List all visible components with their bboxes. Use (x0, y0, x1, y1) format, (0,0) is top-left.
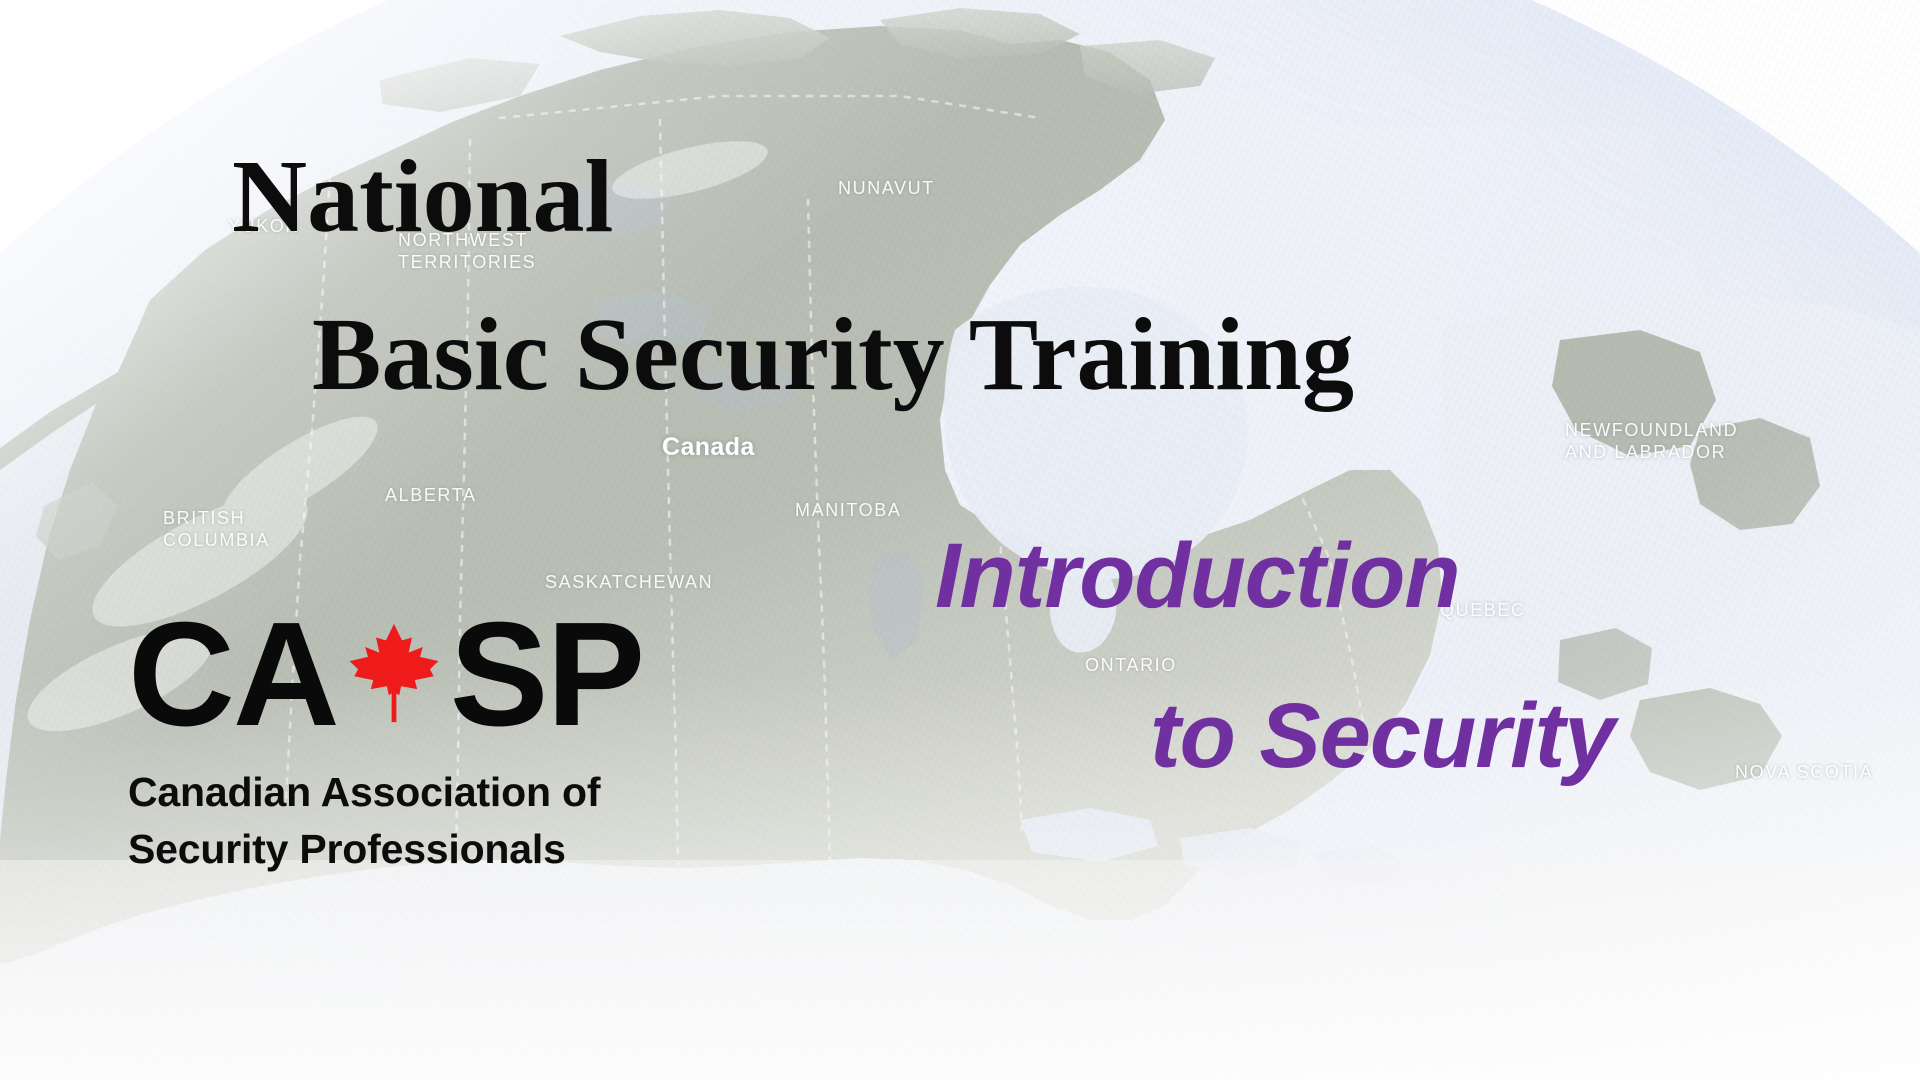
maple-leaf-icon (346, 621, 442, 729)
map-label-bc: BRITISH COLUMBIA (163, 508, 270, 552)
casp-logo: CA SP Canadian Association of Security P… (128, 600, 748, 877)
casp-wordmark-prefix: CA (128, 601, 338, 749)
casp-wordmark: CA SP (128, 600, 748, 750)
map-label-novascotia: NOVA SCOTIA (1735, 762, 1873, 784)
map-label-alberta: ALBERTA (385, 485, 477, 507)
slide-title-line-2: Basic Security Training (312, 303, 1354, 407)
slide-subtitle-line-2: to Security (1150, 690, 1614, 782)
casp-tagline: Canadian Association of Security Profess… (128, 764, 748, 877)
map-label-saskatchewan: SASKATCHEWAN (545, 572, 713, 594)
casp-wordmark-suffix: SP (450, 601, 643, 749)
map-label-newfoundland: NEWFOUNDLAND AND LABRADOR (1565, 420, 1738, 464)
title-slide: CanadaYUKONNORTHWEST TERRITORIESNUNAVUTB… (0, 0, 1920, 1080)
slide-title-line-1: National (232, 145, 613, 249)
slide-subtitle-line-1: Introduction (935, 530, 1460, 622)
casp-tagline-line-2: Security Professionals (128, 821, 748, 878)
map-label-ontario: ONTARIO (1085, 655, 1177, 677)
map-label-nunavut: NUNAVUT (838, 178, 935, 200)
map-label-manitoba: MANITOBA (795, 500, 901, 522)
map-label-country: Canada (662, 432, 755, 463)
casp-tagline-line-1: Canadian Association of (128, 764, 748, 821)
